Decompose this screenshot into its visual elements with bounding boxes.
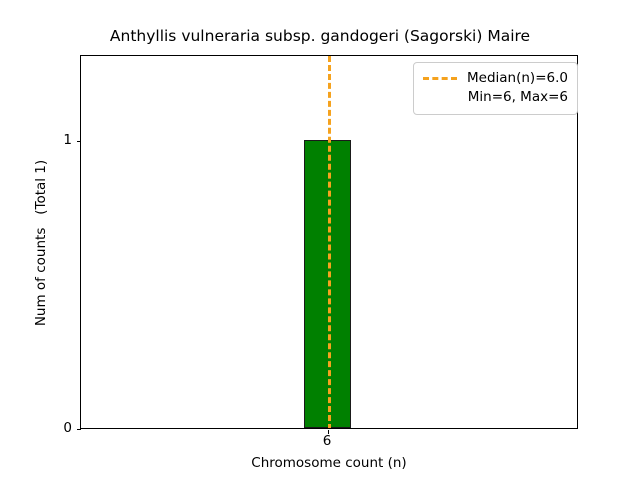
legend-swatch-dashed-line-icon	[423, 77, 457, 80]
y-axis-label: Num of counts (Total 1)	[33, 56, 49, 430]
chart-title: Anthyllis vulneraria subsp. gandogeri (S…	[0, 27, 640, 46]
ytick-label-0: 0	[56, 421, 72, 435]
legend-label-median: Median(n)=6.0	[467, 69, 568, 88]
legend-entry-minmax: Min=6, Max=6	[423, 88, 568, 107]
chart-figure: Anthyllis vulneraria subsp. gandogeri (S…	[0, 0, 640, 480]
legend-entry-median: Median(n)=6.0	[423, 69, 568, 88]
median-line	[328, 56, 331, 428]
legend: Median(n)=6.0 Min=6, Max=6	[413, 62, 578, 115]
x-axis-label: Chromosome count (n)	[80, 455, 578, 471]
xtick-label-6: 6	[307, 434, 347, 448]
ytick-label-1: 1	[56, 133, 72, 147]
ytick-mark-1	[77, 141, 81, 142]
legend-label-minmax: Min=6, Max=6	[468, 88, 568, 107]
ytick-mark-0	[77, 429, 81, 430]
